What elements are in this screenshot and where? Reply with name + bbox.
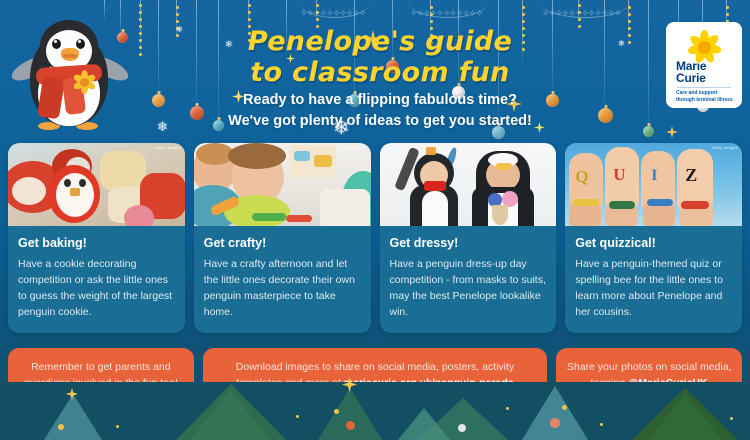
christmas-tree: [44, 394, 102, 440]
penguin-beak: [61, 48, 79, 61]
logo-divider: [677, 87, 732, 88]
card-title: Get baking!: [18, 236, 175, 250]
logo-tagline: Care and support through terminal illnes…: [673, 90, 735, 103]
card-body-quizzical: Get quizzical! Have a penguin-themed qui…: [565, 226, 742, 333]
photo-credit: Getty Images: [155, 145, 181, 150]
card-text: Have a penguin-themed quiz or spelling b…: [575, 257, 732, 321]
page-subtitle: Ready to have a flipping fabulous time? …: [180, 90, 580, 132]
card-body-dressy: Get dressy! Have a penguin dress-up day …: [380, 226, 557, 333]
card-body-baking: Get baking! Have a cookie decorating com…: [8, 226, 185, 333]
poster-canvas: ❄ ❄ ❄ ❄ ❄ ✧✧✧✧✧✧✧✧✧✧ ✧✧✧✧✧✧✧✧✧✧✧ ✧✧✧✧✧✧✧…: [0, 0, 750, 440]
page-title: Penelope's guide to classroom fun: [230, 26, 530, 89]
card-photo-quizzical: Q U I Z Getty Images: [565, 143, 742, 226]
card-body-crafty: Get crafty! Have a crafty afternoon and …: [194, 226, 371, 333]
page-subtitle-line2: We've got plenty of ideas to get you sta…: [180, 111, 580, 132]
christmas-tree: [318, 382, 382, 440]
christmas-tree: [176, 384, 286, 440]
card-photo-baking: Getty Images: [8, 143, 185, 226]
photo-credit: Getty Images: [526, 145, 552, 150]
page-title-line1: Penelope's guide: [230, 26, 530, 57]
logo-wordmark: Marie Curie: [673, 60, 735, 84]
logo-wordmark-line2: Curie: [676, 72, 735, 84]
card-photo-crafty: Getty Images: [194, 143, 371, 226]
penguin-eye-left: [52, 39, 61, 49]
daffodil-logo-icon: [684, 29, 724, 58]
activity-card-list: Getty Images Get baking! Have a cookie d…: [8, 143, 742, 333]
logo-tagline-line2: through terminal illness: [676, 97, 735, 103]
card-text: Have a cookie decorating competition or …: [18, 257, 175, 321]
card-photo-dressy: Getty Images: [380, 143, 557, 226]
penelope-penguin-mascot: [14, 8, 126, 136]
marie-curie-logo: Marie Curie Care and support through ter…: [666, 22, 742, 108]
card-text: Have a crafty afternoon and let the litt…: [204, 257, 361, 321]
christmas-tree: [632, 388, 738, 440]
activity-card-dressy[interactable]: Getty Images Get dressy! Have a penguin …: [380, 143, 557, 333]
christmas-tree: [398, 408, 450, 440]
card-title: Get quizzical!: [575, 236, 732, 250]
photo-credit: Getty Images: [340, 145, 366, 150]
activity-card-baking[interactable]: Getty Images Get baking! Have a cookie d…: [8, 143, 185, 333]
activity-card-crafty[interactable]: Getty Images Get crafty! Have a crafty a…: [194, 143, 371, 333]
christmas-tree: [522, 386, 588, 440]
daffodil-icon: [72, 70, 96, 94]
card-text: Have a penguin dress-up day competition …: [390, 257, 547, 321]
bottom-scene: [0, 382, 750, 440]
activity-card-quizzical[interactable]: Q U I Z Getty Images Get quizzical! Have…: [565, 143, 742, 333]
photo-credit: Getty Images: [712, 145, 738, 150]
page-title-line2: to classroom fun: [230, 57, 530, 88]
card-title: Get dressy!: [390, 236, 547, 250]
card-title: Get crafty!: [204, 236, 361, 250]
penguin-eye-right: [76, 39, 85, 49]
page-subtitle-line1: Ready to have a flipping fabulous time?: [180, 90, 580, 111]
